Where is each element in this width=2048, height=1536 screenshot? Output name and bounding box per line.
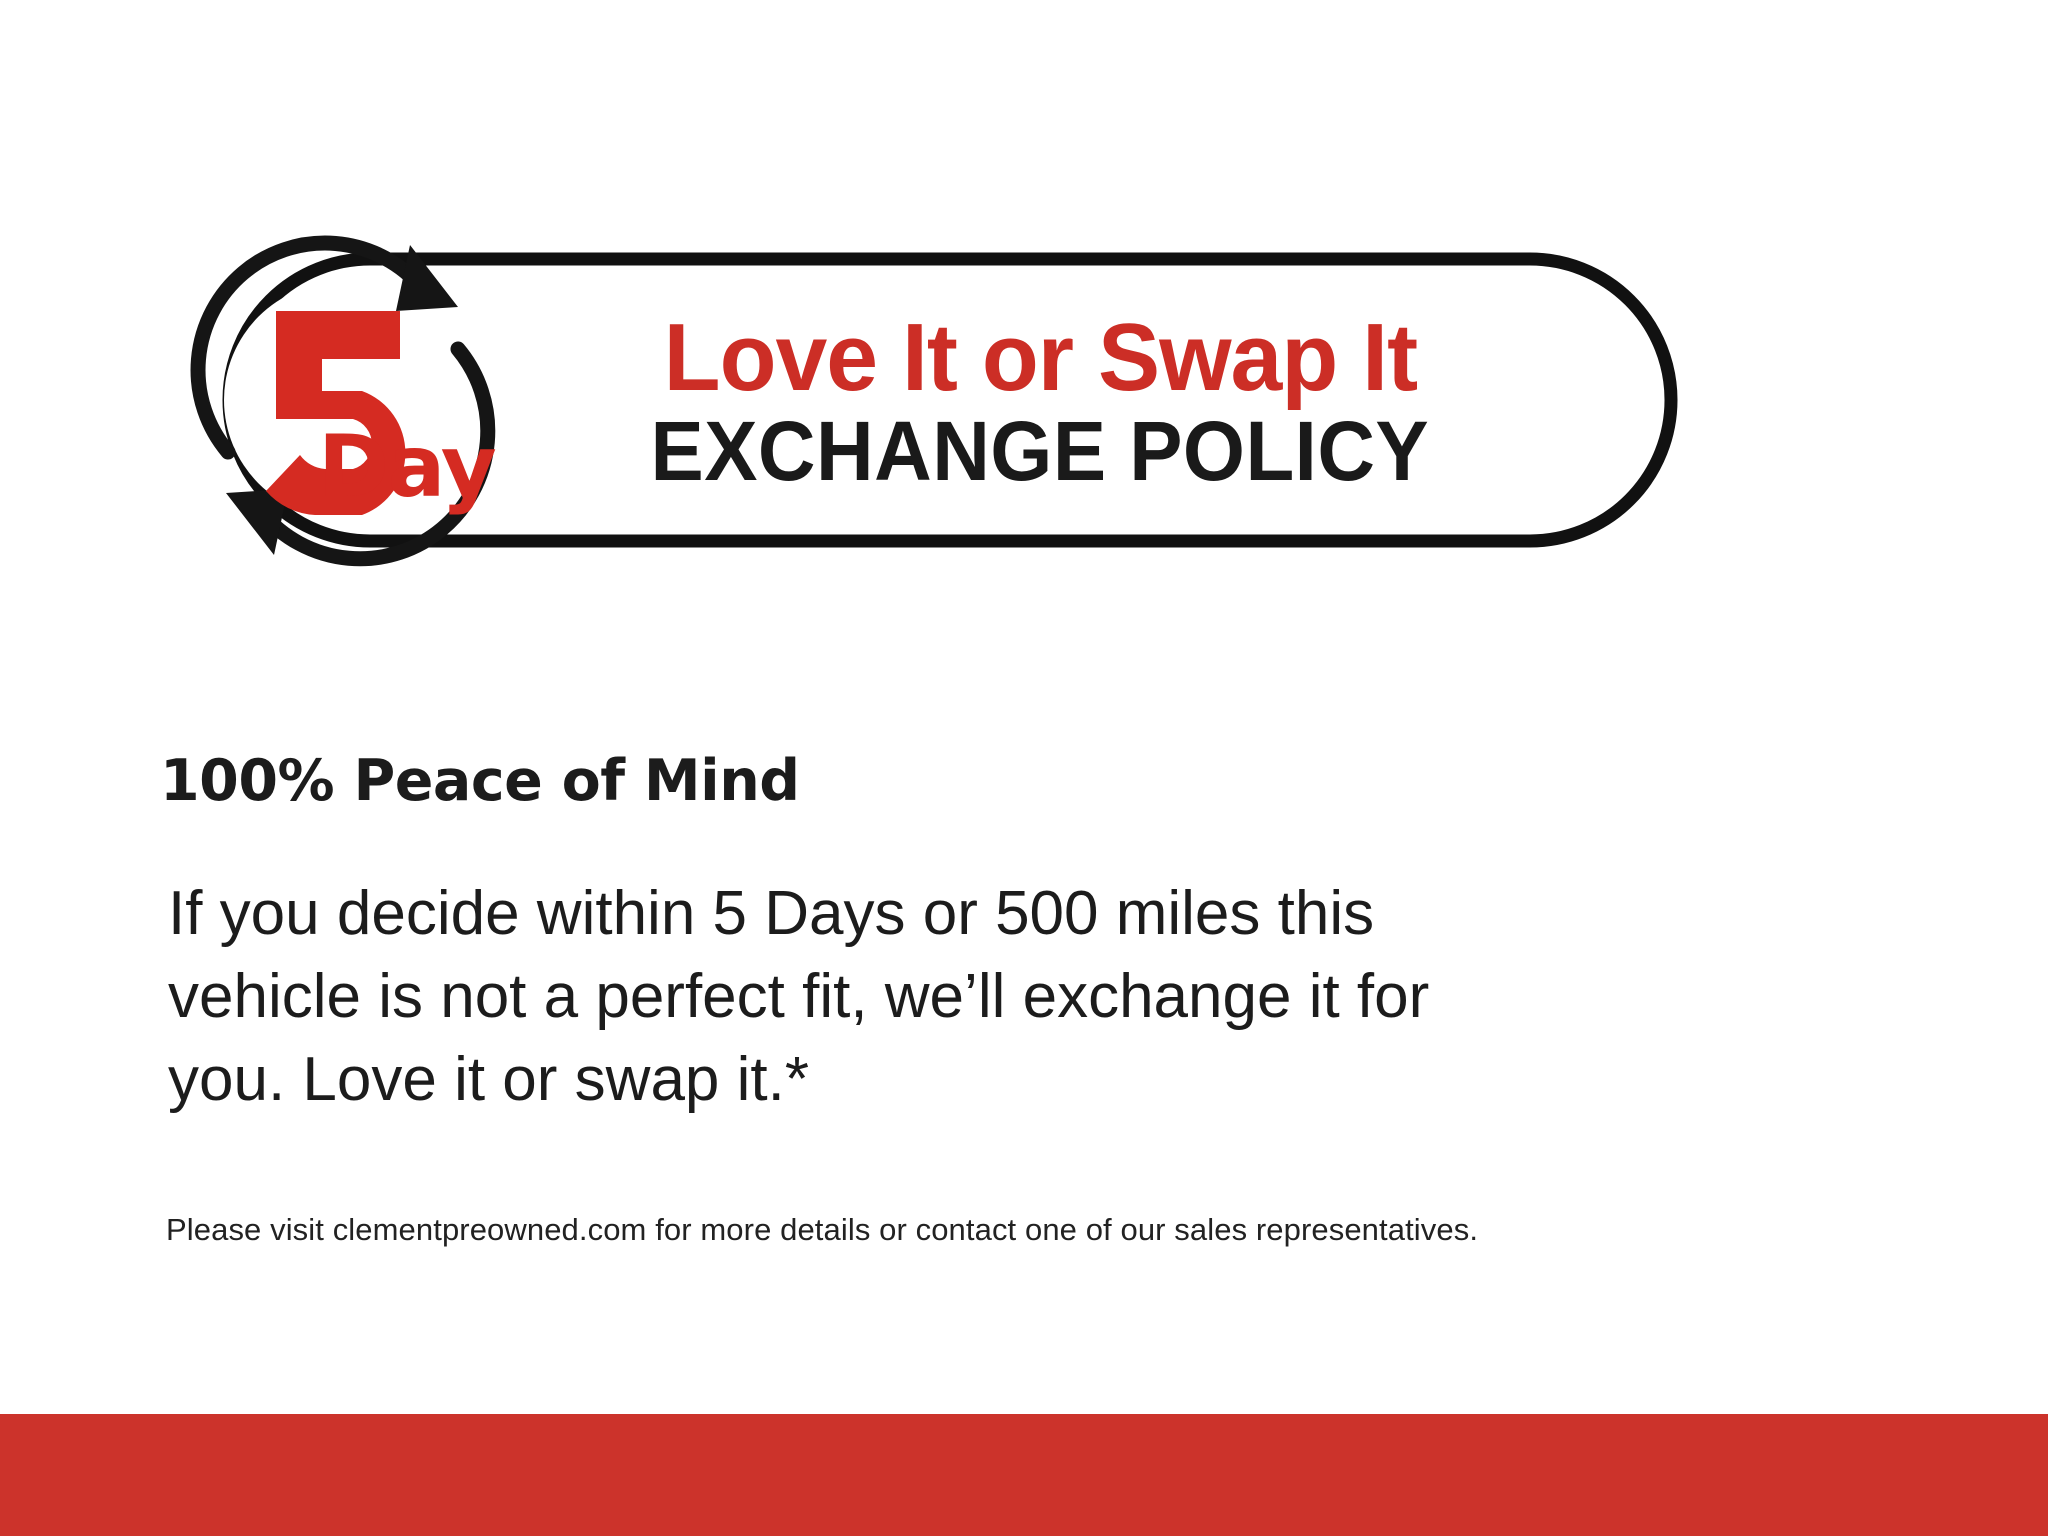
bottom-accent-bar <box>0 1414 2048 1536</box>
body-line: you. Love it or swap it.* <box>168 1038 1768 1121</box>
peace-of-mind-heading: 100% Peace of Mind <box>160 748 800 814</box>
policy-body-copy: If you decide within 5 Days or 500 miles… <box>168 872 1768 1121</box>
footnote-text: Please visit clementpreowned.com for mor… <box>166 1212 1478 1248</box>
policy-headline: Love It or Swap It <box>663 311 1416 405</box>
policy-subheadline: EXCHANGE POLICY <box>651 409 1430 495</box>
body-line: If you decide within 5 Days or 500 miles… <box>168 872 1768 955</box>
banner-text-block: Love It or Swap It EXCHANGE POLICY <box>420 260 1660 545</box>
policy-badge-lockup: Day Love It or Swap It EXCHANGE POLICY <box>110 215 1710 635</box>
body-line: vehicle is not a perfect fit, we’ll exch… <box>168 955 1768 1038</box>
exchange-policy-slide: Day Love It or Swap It EXCHANGE POLICY 1… <box>0 0 2048 1536</box>
